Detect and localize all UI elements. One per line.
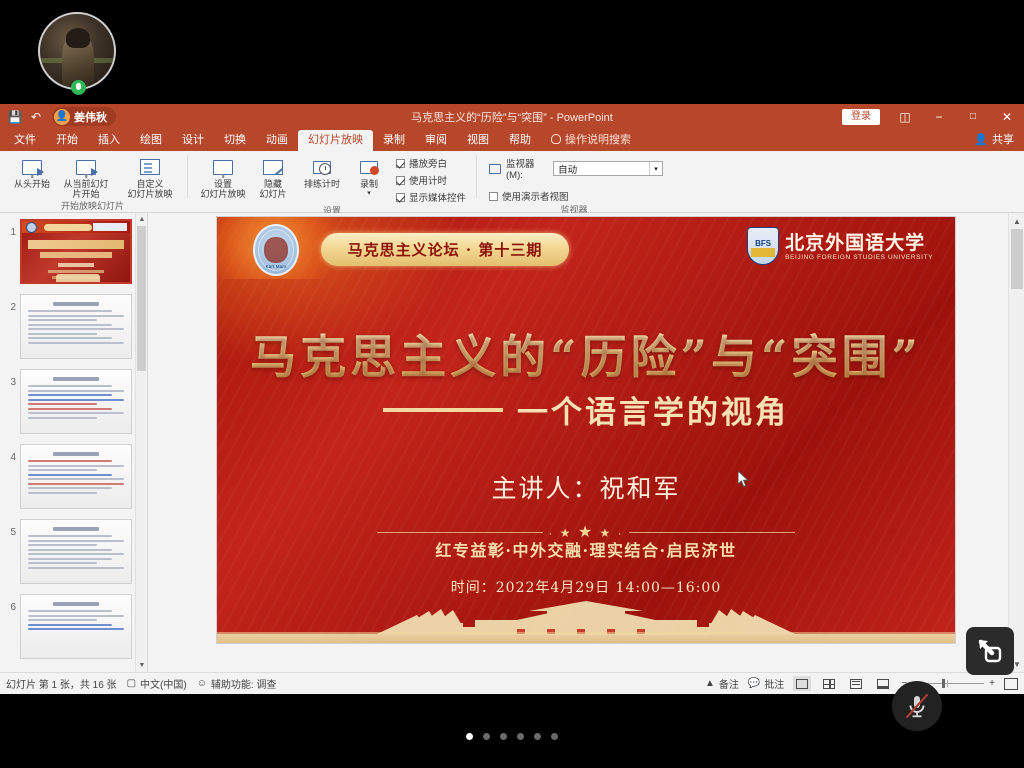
tell-me-search[interactable]: 操作说明搜索 xyxy=(541,131,631,151)
start-from-beginning-label: 从头开始 xyxy=(14,179,50,189)
close-icon[interactable]: ✕ xyxy=(990,104,1024,129)
custom-slide-show-button[interactable]: 自定义 幻灯片放映 xyxy=(121,153,179,199)
tab-design[interactable]: 设计 xyxy=(172,130,214,151)
monitor-label: 监视器(M): xyxy=(506,156,548,181)
thumbnail-number: 5 xyxy=(4,519,16,538)
user-name: 姜伟秋 xyxy=(74,109,107,125)
share-person-icon: 👤 xyxy=(974,133,988,146)
page-indicator-dots[interactable] xyxy=(0,733,1024,740)
thumbnail-slide-3[interactable] xyxy=(20,369,132,434)
tab-home[interactable]: 开始 xyxy=(46,130,88,151)
start-from-current-slide-button[interactable]: 从当前幻灯片开始 xyxy=(60,153,112,199)
university-name-cn: 北京外国语大学 xyxy=(785,232,925,254)
status-bar-right: ▲ 备注 💬 批注 − + xyxy=(705,676,1018,691)
slide-header: Karl Marx 马克思主义论坛 · 第十三期 BFS 北京外国语大学 xyxy=(217,217,955,279)
zoom-slider-handle[interactable] xyxy=(942,679,945,688)
forum-banner-text: 马克思主义论坛 · 第十三期 xyxy=(348,239,543,260)
divider-line-right xyxy=(629,532,795,533)
custom-slide-show-label: 自定义 幻灯片放映 xyxy=(127,179,172,199)
mini-university-logo xyxy=(93,223,127,231)
monitor-selector[interactable]: 监视器(M): 自动 ▾ xyxy=(489,153,663,181)
window-controls: 登录 ◫ − □ ✕ xyxy=(842,104,1024,129)
avatar[interactable] xyxy=(38,12,116,90)
checkbox-icon xyxy=(489,192,498,201)
ribbon-tab-bar: 文件 开始 插入 绘图 设计 切换 动画 幻灯片放映 录制 审阅 视图 帮助 操… xyxy=(0,129,1024,151)
mini-doc-title xyxy=(53,527,99,531)
notes-button[interactable]: ▲ 备注 xyxy=(705,676,739,691)
quick-access-toolbar: 💾 ↶ 👤 姜伟秋 xyxy=(0,107,116,126)
tab-draw[interactable]: 绘图 xyxy=(130,130,172,151)
thumbnail-item[interactable]: 5 xyxy=(4,519,147,584)
normal-view-icon xyxy=(796,679,808,689)
mini-banner xyxy=(44,224,92,231)
thumbnail-number: 4 xyxy=(4,444,16,463)
mini-speaker xyxy=(58,263,94,267)
slide-time: 时间：2022年4月29日 14:00—16:00 xyxy=(217,577,955,597)
checkbox-presenter-view[interactable]: 使用演示者视图 xyxy=(489,183,569,203)
scroll-up-icon[interactable]: ▲ xyxy=(1009,213,1024,229)
checkbox-play-narrations[interactable]: 播放旁白 xyxy=(396,156,466,170)
marx-face xyxy=(264,237,288,263)
accessibility-indicator[interactable]: ☺ 辅助功能: 调查 xyxy=(197,676,277,691)
expand-fullscreen-button[interactable] xyxy=(966,627,1014,675)
thumbnail-slide-6[interactable] xyxy=(20,594,132,659)
current-slide[interactable]: Karl Marx 马克思主义论坛 · 第十三期 BFS 北京外国语大学 xyxy=(217,217,955,643)
fit-slide-to-window-icon[interactable] xyxy=(1004,678,1018,690)
accessibility-label: 辅助功能: 调查 xyxy=(211,676,277,691)
tab-animations[interactable]: 动画 xyxy=(256,130,298,151)
thumbnail-item[interactable]: 4 xyxy=(4,444,147,509)
share-button[interactable]: 👤 共享 xyxy=(974,131,1024,151)
university-shield-icon: BFS xyxy=(747,227,779,265)
ribbon-group-start-slide-show: 从头开始 从当前幻灯片开始 自定义 幻灯片放映 xyxy=(0,151,185,212)
tab-insert[interactable]: 插入 xyxy=(88,130,130,151)
mic-active-icon xyxy=(71,80,86,95)
checkbox-icon xyxy=(396,159,405,168)
thumbnail-item[interactable]: 6 xyxy=(4,594,147,659)
checkbox-show-media-controls[interactable]: 显示媒体控件 xyxy=(396,190,466,204)
tab-file[interactable]: 文件 xyxy=(4,130,46,151)
sign-in-button[interactable]: 登录 xyxy=(842,109,880,125)
normal-view-button[interactable] xyxy=(793,676,811,691)
university-shield-text: BFS xyxy=(755,239,771,248)
mini-gate xyxy=(56,274,100,282)
mini-doc-title xyxy=(53,602,99,606)
slide-sorter-button[interactable] xyxy=(820,676,838,691)
scroll-up-icon[interactable]: ▲ xyxy=(136,213,148,226)
shield-bar xyxy=(751,248,775,257)
comments-label: 批注 xyxy=(764,676,784,691)
reading-view-icon xyxy=(850,679,862,689)
slide-show-button[interactable] xyxy=(874,676,892,691)
university-names: 北京外国语大学 BEIJING FOREIGN STUDIES UNIVERSI… xyxy=(785,232,933,261)
set-up-slide-show-button[interactable]: 设置 幻灯片放映 xyxy=(196,153,250,199)
thumbnail-slide-1[interactable] xyxy=(20,219,132,284)
thumbnail-slide-4[interactable] xyxy=(20,444,132,509)
save-icon[interactable]: 💾 xyxy=(8,110,22,124)
slide-title: 马克思主义的“历险”与“突围” xyxy=(217,321,955,387)
mini-doc-title xyxy=(53,377,99,381)
university-logo: BFS 北京外国语大学 BEIJING FOREIGN STUDIES UNIV… xyxy=(747,227,933,265)
slide-subtitle: 一个语言学的视角 xyxy=(517,387,789,432)
slide-show-icon xyxy=(877,679,889,689)
thumbnail-item[interactable]: 1 xyxy=(4,219,147,284)
thumbnail-item[interactable]: 3 xyxy=(4,369,147,434)
accessibility-icon: ☺ xyxy=(197,678,207,689)
slide-subtitle-row: 一个语言学的视角 xyxy=(217,387,955,432)
microphone-muted-icon xyxy=(903,692,931,720)
mini-doc-slide xyxy=(21,445,131,508)
page-dot[interactable] xyxy=(534,733,541,740)
group-label-start-slide-show: 开始放映幻灯片 xyxy=(6,199,179,213)
rehearse-timings-icon xyxy=(313,155,331,179)
record-slide-show-label: 录制 xyxy=(360,179,378,189)
checkbox-play-narrations-label: 播放旁白 xyxy=(409,156,447,170)
work-area: 1 xyxy=(0,213,1024,672)
comments-icon: 💬 xyxy=(748,678,760,689)
tab-review[interactable]: 审阅 xyxy=(415,130,457,151)
reading-view-button[interactable] xyxy=(847,676,865,691)
slide-speaker: 主讲人：祝和军 xyxy=(217,469,955,505)
slide-scrollbar[interactable]: ▲ ▼ xyxy=(1008,213,1024,672)
checkbox-presenter-view-label: 使用演示者视图 xyxy=(502,189,569,203)
checkbox-icon xyxy=(396,176,405,185)
slide-show-options: 播放旁白 使用计时 显示媒体控件 xyxy=(390,153,468,204)
checkbox-use-timings-label: 使用计时 xyxy=(409,173,447,187)
start-from-beginning-icon xyxy=(22,155,42,179)
screen: 💾 ↶ 👤 姜伟秋 马克思主义的“历险”与“突围” - PowerPoint 登… xyxy=(0,0,1024,768)
ribbon-group-monitors: 监视器(M): 自动 ▾ 使用演示者视图 监视器 xyxy=(479,151,669,212)
lightbulb-icon xyxy=(551,134,561,144)
mini-motto xyxy=(48,270,104,273)
set-up-slide-show-icon xyxy=(213,155,233,179)
mini-marx-logo xyxy=(26,222,37,233)
tab-view[interactable]: 视图 xyxy=(457,130,499,151)
page-dot[interactable] xyxy=(500,733,507,740)
page-dot[interactable] xyxy=(466,733,473,740)
forum-banner: 马克思主义论坛 · 第十三期 xyxy=(321,233,569,266)
user-chip[interactable]: 👤 姜伟秋 xyxy=(52,107,116,126)
slide-counter[interactable]: 幻灯片 第 1 张，共 16 张 xyxy=(6,676,117,691)
hide-slide-icon xyxy=(263,155,283,179)
scroll-down-icon[interactable]: ▼ xyxy=(136,659,148,672)
scrollbar-thumb[interactable] xyxy=(1011,229,1023,289)
keyboard-language-icon: ▢ xyxy=(127,678,136,689)
marx-portrait-logo: Karl Marx xyxy=(253,224,299,276)
checkbox-icon xyxy=(396,193,405,202)
page-dot[interactable] xyxy=(517,733,524,740)
divider xyxy=(476,155,477,198)
hide-slide-label: 隐藏 幻灯片 xyxy=(259,179,286,199)
title-bar: 💾 ↶ 👤 姜伟秋 马克思主义的“历险”与“突围” - PowerPoint 登… xyxy=(0,104,1024,129)
thumbnail-item[interactable]: 2 xyxy=(4,294,147,359)
start-from-beginning-button[interactable]: 从头开始 xyxy=(6,153,58,189)
tell-me-label: 操作说明搜索 xyxy=(565,131,631,147)
tab-help[interactable]: 帮助 xyxy=(499,130,541,151)
divider-line-left xyxy=(377,532,543,533)
tiananmen-gate-illustration xyxy=(217,601,955,643)
notes-label: 备注 xyxy=(719,676,739,691)
tab-transitions[interactable]: 切换 xyxy=(214,130,256,151)
mini-doc-slide xyxy=(21,595,131,658)
tab-slide-show[interactable]: 幻灯片放映 xyxy=(298,130,373,151)
user-avatar-icon: 👤 xyxy=(54,109,70,125)
start-from-current-slide-icon xyxy=(76,155,96,179)
rehearse-timings-label: 排练计时 xyxy=(304,179,340,189)
slide-motto: 红专益彰·中外交融·理实结合·启民济世 xyxy=(217,537,955,561)
chevron-down-icon[interactable]: ▾ xyxy=(649,162,662,175)
mini-title xyxy=(28,240,124,249)
avatar-hair xyxy=(66,28,90,48)
zoom-slider-midpoint xyxy=(947,680,948,687)
record-slide-show-icon xyxy=(360,155,378,179)
webcam-avatar-container[interactable] xyxy=(38,12,116,90)
set-up-slide-show-label: 设置 幻灯片放映 xyxy=(200,179,245,199)
tab-record[interactable]: 录制 xyxy=(373,130,415,151)
zoom-in-icon[interactable]: + xyxy=(989,678,995,689)
undo-icon[interactable]: ↶ xyxy=(29,110,43,124)
notes-icon: ▲ xyxy=(705,678,715,689)
university-name-en: BEIJING FOREIGN STUDIES UNIVERSITY xyxy=(785,254,933,261)
start-from-current-slide-label: 从当前幻灯片开始 xyxy=(60,179,112,199)
ribbon-group-set-up: 设置 幻灯片放映 隐藏 幻灯片 排练计时 xyxy=(190,151,474,212)
monitor-value: 自动 xyxy=(558,162,577,176)
page-dot[interactable] xyxy=(551,733,558,740)
thumbnail-slide-2[interactable] xyxy=(20,294,132,359)
slide-sorter-icon xyxy=(823,679,835,689)
status-bar: 幻灯片 第 1 张，共 16 张 ▢ 中文(中国) ☺ 辅助功能: 调查 ▲ 备… xyxy=(0,672,1024,694)
page-dot[interactable] xyxy=(483,733,490,740)
slide-editing-area[interactable]: Karl Marx 马克思主义论坛 · 第十三期 BFS 北京外国语大学 xyxy=(148,213,1024,672)
minimize-icon[interactable]: − xyxy=(922,104,956,129)
mini-doc-title xyxy=(53,302,99,306)
microphone-mute-button[interactable] xyxy=(892,681,942,731)
share-label: 共享 xyxy=(992,131,1014,147)
maximize-icon[interactable]: □ xyxy=(956,104,990,129)
mini-doc-slide xyxy=(21,295,131,358)
mini-title-slide xyxy=(22,221,130,282)
custom-slide-show-icon xyxy=(140,155,160,179)
expand-fullscreen-icon xyxy=(977,638,1003,664)
checkbox-use-timings[interactable]: 使用计时 xyxy=(396,173,466,187)
rehearse-timings-button[interactable]: 排练计时 xyxy=(296,153,348,189)
mini-doc-slide xyxy=(21,370,131,433)
record-slide-show-button[interactable]: 录制 ▾ xyxy=(350,153,388,199)
thumbnail-number: 1 xyxy=(4,219,16,238)
mouse-cursor-icon xyxy=(738,471,750,488)
language-label: 中文(中国) xyxy=(140,676,187,691)
slide-thumbnail-pane[interactable]: 1 xyxy=(0,213,148,672)
monitor-dropdown[interactable]: 自动 ▾ xyxy=(553,161,663,176)
gate-ground xyxy=(217,634,955,643)
hide-slide-button[interactable]: 隐藏 幻灯片 xyxy=(252,153,294,199)
monitor-icon xyxy=(489,164,501,174)
scrollbar-thumb[interactable] xyxy=(137,226,146,371)
ribbon-display-options-icon[interactable]: ◫ xyxy=(888,104,922,129)
thumbnail-number: 6 xyxy=(4,594,16,613)
powerpoint-window: 💾 ↶ 👤 姜伟秋 马克思主义的“历险”与“突围” - PowerPoint 登… xyxy=(0,104,1024,672)
mini-subtitle xyxy=(40,252,112,258)
subtitle-dash xyxy=(383,408,503,412)
thumbnail-slide-5[interactable] xyxy=(20,519,132,584)
ribbon: 从头开始 从当前幻灯片开始 自定义 幻灯片放映 xyxy=(0,151,1024,213)
mini-doc-slide xyxy=(21,520,131,583)
thumbnail-scrollbar[interactable]: ▲ ▼ xyxy=(135,213,147,672)
mini-doc-title xyxy=(53,452,99,456)
checkbox-show-media-controls-label: 显示媒体控件 xyxy=(409,190,466,204)
thumbnail-number: 2 xyxy=(4,294,16,313)
marx-logo-caption: Karl Marx xyxy=(265,264,286,269)
comments-button[interactable]: 💬 批注 xyxy=(748,676,784,691)
thumbnail-number: 3 xyxy=(4,369,16,388)
chevron-down-icon[interactable]: ▾ xyxy=(367,189,371,199)
language-indicator[interactable]: ▢ 中文(中国) xyxy=(127,676,187,691)
divider xyxy=(187,155,188,198)
